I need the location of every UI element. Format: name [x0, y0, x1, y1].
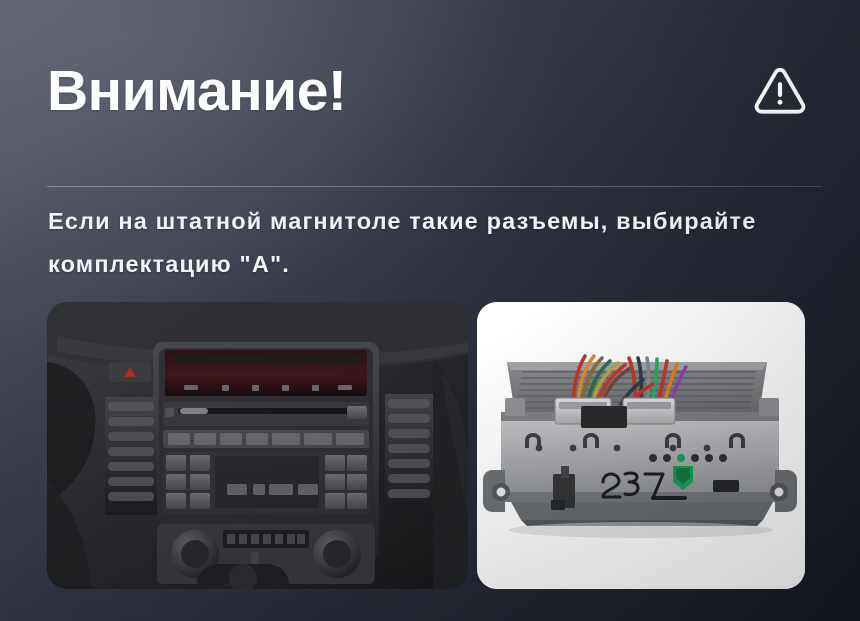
photo-row: А: [47, 302, 805, 589]
slide-header: Внимание!: [47, 48, 813, 134]
instruction-line-1: Если на штатной магнитоле такие разъемы,…: [48, 200, 820, 243]
instruction-line-2: комплектацию "А".: [48, 243, 820, 286]
radio-unit-connectors-photo: А: [477, 302, 805, 589]
page-title: Внимание!: [47, 63, 346, 120]
header-divider: [47, 186, 822, 187]
warning-triangle-icon: [751, 62, 809, 120]
instruction-text: Если на штатной магнитоле такие разъемы,…: [48, 200, 820, 286]
car-dashboard-head-unit-photo: [47, 302, 468, 589]
warning-slide: Внимание! Если на штатной магнитоле таки…: [0, 0, 860, 621]
